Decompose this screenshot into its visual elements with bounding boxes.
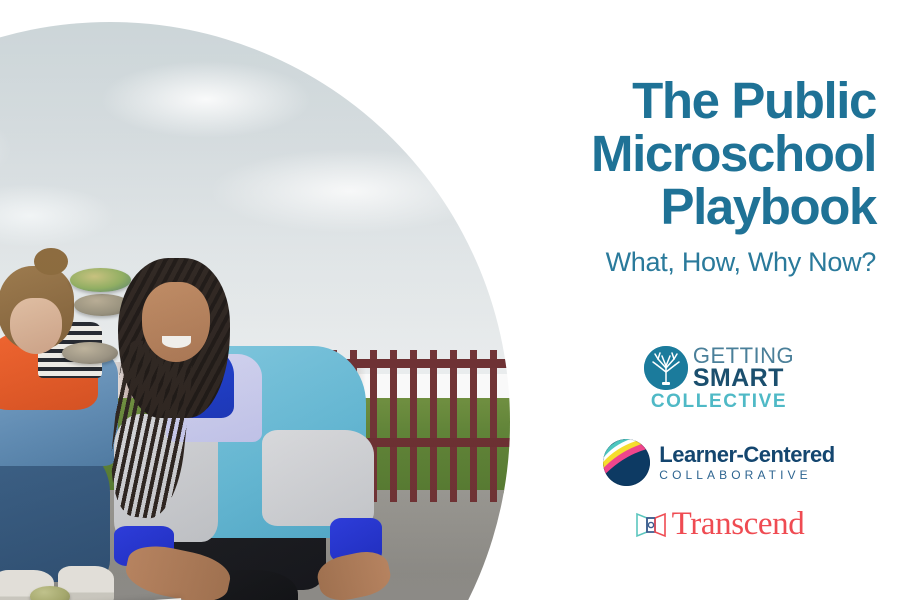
striped-sphere-icon — [603, 439, 650, 486]
logo-transcend[interactable]: Transcend — [554, 508, 884, 541]
title-line-2: Microschool — [516, 127, 876, 180]
person-right-face — [142, 282, 210, 362]
partner-logos: GETTING SMART COLLECTIVE — [554, 346, 884, 541]
getting-smart-lockup: GETTING SMART — [644, 346, 794, 390]
logo-name-learner-centered: Learner-Centered — [659, 443, 834, 466]
stone — [30, 586, 70, 600]
logo-line-smart: SMART — [693, 367, 794, 390]
title-line-1: The Public — [516, 74, 876, 127]
logo-line-collective: COLLECTIVE — [651, 391, 787, 413]
open-portal-icon — [634, 510, 668, 540]
poster-canvas: The Public Microschool Playbook What, Ho… — [0, 0, 900, 600]
title-line-3: Playbook — [516, 180, 876, 233]
logo-getting-smart-collective[interactable]: GETTING SMART COLLECTIVE — [554, 346, 884, 413]
logo-sub-collaborative: COLLABORATIVE — [659, 468, 834, 482]
hero-photo — [0, 22, 510, 600]
tree-in-circle-icon — [644, 346, 688, 390]
learner-centered-wordmark: Learner-Centered COLLABORATIVE — [659, 443, 834, 481]
hero-photo-scene — [0, 22, 510, 600]
person-middle-face — [10, 298, 62, 354]
logo-name-transcend: Transcend — [672, 508, 805, 541]
hair-bun — [34, 248, 68, 275]
person-middle-jeans — [0, 446, 110, 582]
getting-smart-wordmark: GETTING SMART — [693, 346, 794, 389]
page-subtitle: What, How, Why Now? — [516, 247, 876, 278]
jacket-grey-panel — [262, 430, 374, 526]
logo-learner-centered-collaborative[interactable]: Learner-Centered COLLABORATIVE — [554, 439, 884, 486]
page-title: The Public Microschool Playbook — [516, 0, 876, 233]
